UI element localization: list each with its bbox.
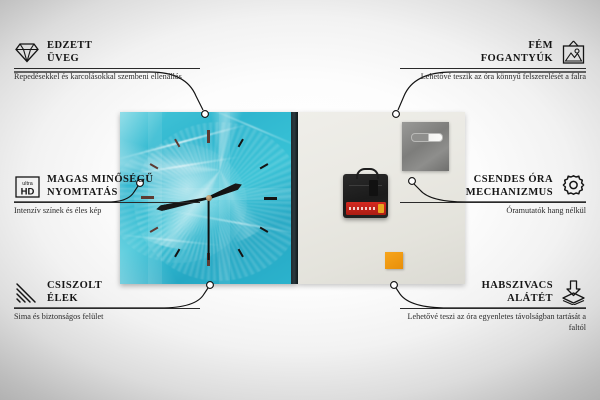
quartz-movement [343,174,388,218]
divider [400,308,586,309]
callout-description: Óramutatók hang nélkül [400,206,586,217]
callout-tempered-glass: EDZETT ÜVEG Repedésekkel és karcolásokka… [14,40,200,83]
divider [400,68,586,69]
battery [346,202,386,215]
callout-header: ultra HD MAGAS MINŐSÉGŰ NYOMTATÁS [14,174,200,199]
callout-description: Lehetővé teszik az óra könnyű felszerelé… [400,72,586,83]
framed-picture-icon [560,41,586,65]
callout-title: CSENDES ÓRA MECHANIZMUS [466,174,553,199]
callout-title: CSISZOLT ÉLEK [47,280,102,305]
svg-text:HD: HD [20,186,34,197]
ultra-hd-icon: ultra HD [14,175,40,199]
callout-header: CSENDES ÓRA MECHANIZMUS [400,174,586,199]
callout-title: HABSZIVACS ALÁTÉT [482,280,553,305]
callout-header: HABSZIVACS ALÁTÉT [400,280,586,305]
diamond-icon [14,41,40,65]
callout-description: Sima és biztonságos felület [14,312,200,323]
callout-silent-mechanism: CSENDES ÓRA MECHANIZMUS Óramutatók hang … [400,174,586,217]
battery-terminal [378,204,384,213]
movement-loop [356,168,379,179]
movement-slot [369,180,378,196]
glass-edge [291,112,298,284]
callout-description: Intenzív színek és éles kép [14,206,200,217]
callout-polished-edges: CSISZOLT ÉLEK Sima és biztonságos felüle… [14,280,200,323]
divider [14,308,200,309]
hour-tick [208,130,210,198]
gear-icon [560,175,586,199]
callout-header: CSISZOLT ÉLEK [14,280,200,305]
divider [400,202,586,203]
hatched-edge-icon [14,281,40,305]
callout-description: Repedésekkel és karcolásokkal szembeni e… [14,72,200,83]
callout-title: FÉM FOGANTYÚK [481,40,553,65]
callout-header: EDZETT ÜVEG [14,40,200,65]
divider [14,202,200,203]
arrow-onto-pad-icon [560,281,586,305]
callout-foam-pad: HABSZIVACS ALÁTÉT Lehetővé teszi az óra … [400,280,586,333]
hour-tick [209,197,277,199]
callout-high-quality-print: ultra HD MAGAS MINŐSÉGŰ NYOMTATÁS Intenz… [14,174,200,217]
callout-description: Lehetővé teszi az óra egyenletes távolsá… [400,312,586,333]
callout-title: EDZETT ÜVEG [47,40,92,65]
infographic-canvas: EDZETT ÜVEG Repedésekkel és karcolásokka… [0,0,600,400]
metal-hanger-plate [402,122,449,171]
callout-title: MAGAS MINŐSÉGŰ NYOMTATÁS [47,174,153,199]
hanger-slot [411,133,443,142]
divider [14,68,200,69]
callout-metal-handles: FÉM FOGANTYÚK Lehetővé teszik az óra kön… [400,40,586,83]
foam-spacer-pad [385,252,403,269]
callout-header: FÉM FOGANTYÚK [400,40,586,65]
battery-label [349,207,375,210]
second-hand [208,198,210,260]
center-cap [206,195,212,201]
